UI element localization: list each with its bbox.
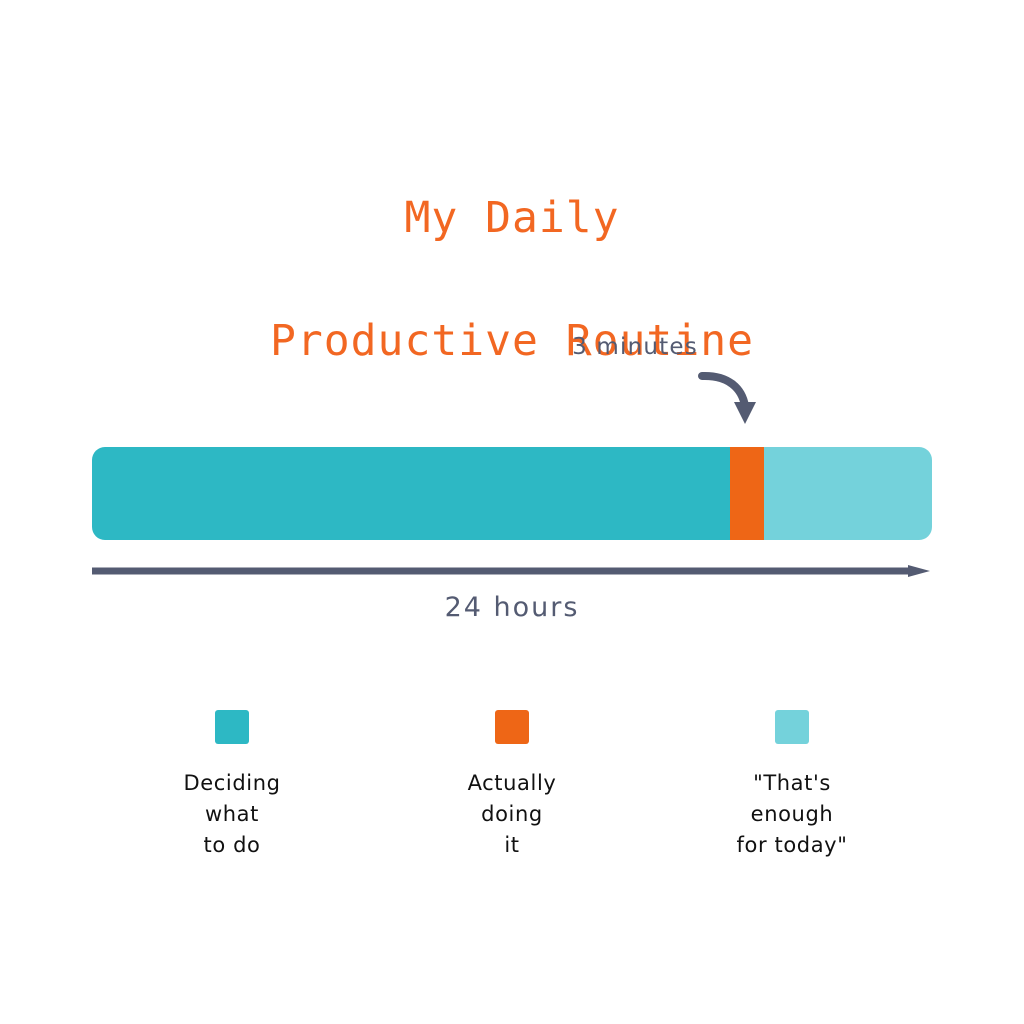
legend-item-deciding: Deciding what to do xyxy=(92,710,372,861)
bar-segment-enough xyxy=(764,447,932,540)
bar-segment-deciding xyxy=(92,447,730,540)
arrow-right-icon xyxy=(92,562,932,574)
legend-swatch-doing xyxy=(495,710,529,744)
curved-arrow-down-icon xyxy=(696,366,766,428)
legend-label-deciding: Deciding what to do xyxy=(183,768,280,861)
title-line-1: My Daily xyxy=(0,198,1024,239)
legend-swatch-deciding xyxy=(215,710,249,744)
legend-label-doing: Actually doing it xyxy=(468,768,557,861)
legend-item-enough: "That's enough for today" xyxy=(652,710,932,861)
axis-label-24-hours: 24 hours xyxy=(92,592,932,623)
bar-segment-doing xyxy=(730,447,764,540)
callout-label-3-minutes: 3 minutes xyxy=(505,334,765,360)
stacked-bar-chart xyxy=(92,447,932,540)
legend-item-doing: Actually doing it xyxy=(372,710,652,861)
chart-legend: Deciding what to do Actually doing it "T… xyxy=(92,710,932,861)
legend-swatch-enough xyxy=(775,710,809,744)
legend-label-enough: "That's enough for today" xyxy=(737,768,848,861)
